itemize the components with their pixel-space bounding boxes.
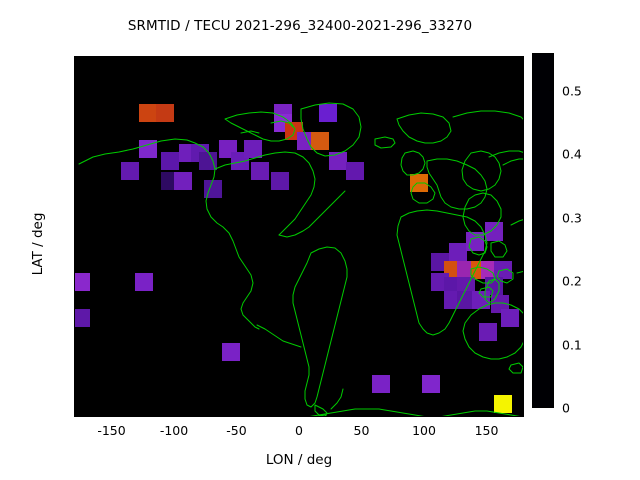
colorbar-tick-label: 0.1 xyxy=(562,337,582,352)
colorbar-tick-label: 0.4 xyxy=(562,147,582,162)
chart-title: SRMTID / TECU 2021-296_32400-2021-296_33… xyxy=(0,18,600,34)
coastline-layer xyxy=(75,57,524,417)
chart-figure: SRMTID / TECU 2021-296_32400-2021-296_33… xyxy=(0,0,640,480)
colorbar-gradient xyxy=(533,54,553,407)
x-axis-label: LON / deg xyxy=(74,452,524,468)
map-plot-area xyxy=(74,56,524,417)
y-axis-label: LAT / deg xyxy=(30,184,46,304)
x-tick-label: 150 xyxy=(447,423,527,438)
colorbar-tick-label: 0.2 xyxy=(562,274,582,289)
colorbar-tick-label: 0.5 xyxy=(562,84,582,99)
colorbar xyxy=(532,53,554,408)
colorbar-tick-label: 0.3 xyxy=(562,210,582,225)
colorbar-tick-label: 0 xyxy=(562,401,570,416)
